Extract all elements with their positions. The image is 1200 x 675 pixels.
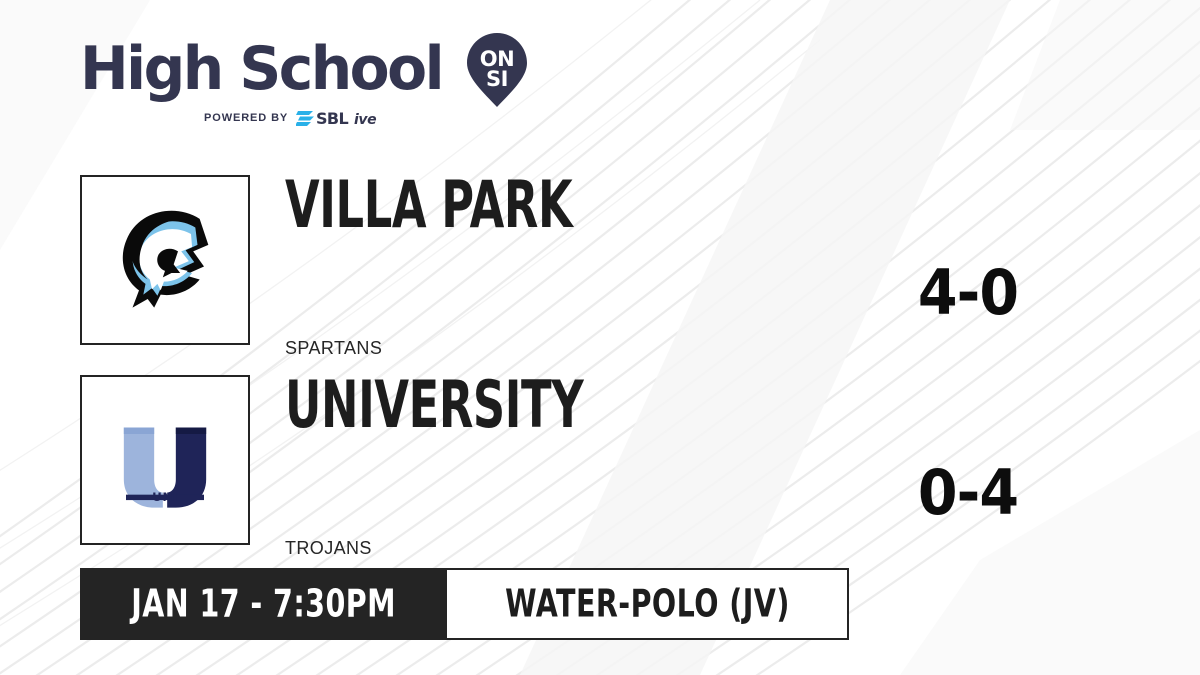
svg-text:UNI: UNI <box>152 490 178 504</box>
spartan-helmet-icon <box>100 195 230 325</box>
info-bar: JAN 17 - 7:30PM WATER-POLO (JV) <box>80 568 849 640</box>
page-title: High School <box>80 39 442 99</box>
team-mascot: TROJANS <box>285 538 372 559</box>
svg-text:SI: SI <box>486 67 508 91</box>
game-sport-block: WATER-POLO (JV) <box>447 568 849 640</box>
matchup-graphic: High School ON SI POWERED BY SBL ive <box>0 0 1200 675</box>
game-datetime-block: JAN 17 - 7:30PM <box>80 568 447 640</box>
team-record: 0-4 <box>876 462 1060 524</box>
game-sport-label: WATER-POLO (JV) <box>505 585 790 623</box>
team-record: 4-0 <box>876 262 1060 324</box>
brand-lockup: High School ON SI POWERED BY SBL ive <box>80 34 527 127</box>
team-logo-box <box>80 175 250 345</box>
team-name: UNIVERSITY <box>285 374 583 439</box>
sblive-logo-icon: SBL ive <box>296 108 392 127</box>
game-datetime-label: JAN 17 - 7:30PM <box>131 585 396 623</box>
brand-title-row: High School ON SI <box>80 34 527 104</box>
powered-by-row: POWERED BY SBL ive <box>204 108 527 127</box>
powered-by-label: POWERED BY <box>204 112 288 124</box>
svg-text:SBL: SBL <box>316 109 349 127</box>
team-mascot: SPARTANS <box>285 338 382 359</box>
university-u-icon: UNI <box>100 395 230 525</box>
team-name: VILLA PARK <box>285 174 572 239</box>
location-pin-icon: ON SI <box>467 33 527 107</box>
svg-text:ive: ive <box>354 112 376 127</box>
team-logo-box: UNI <box>80 375 250 545</box>
